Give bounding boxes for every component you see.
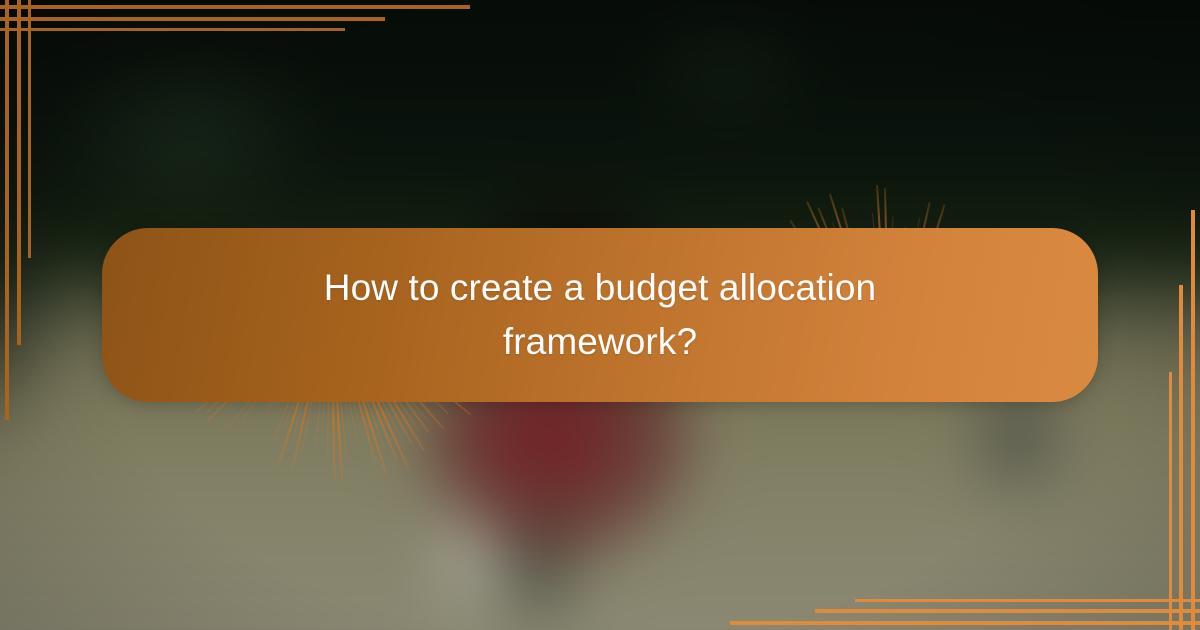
corner-line-horizontal [0,28,345,31]
corner-line-vertical [1169,372,1172,630]
corner-line-horizontal [730,621,1200,625]
question-text: How to create a budget allocation framew… [280,261,920,369]
corner-line-vertical [1179,285,1183,630]
corner-line-horizontal [855,599,1200,602]
corner-line-horizontal [0,5,470,9]
corner-line-vertical [1191,210,1195,630]
question-card: How to create a budget allocation framew… [102,228,1098,402]
corner-line-horizontal [815,609,1200,613]
slide-canvas: How to create a budget allocation framew… [0,0,1200,630]
corner-line-horizontal [0,17,385,21]
corner-line-vertical [17,0,21,345]
corner-line-vertical [28,0,31,258]
corner-line-vertical [5,0,9,420]
